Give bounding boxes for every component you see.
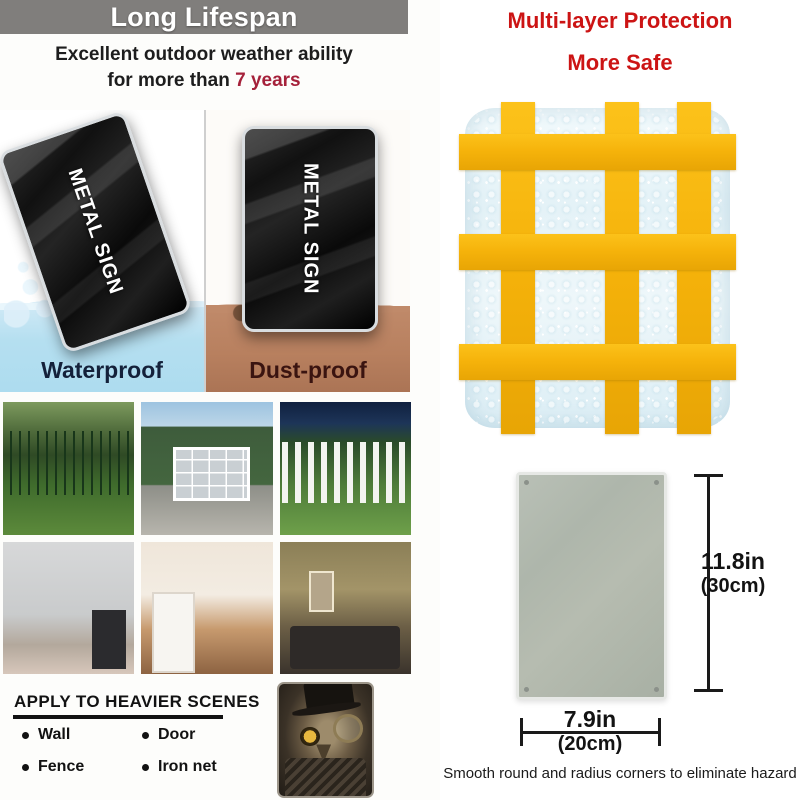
- scene-photo-gray-living-room-wall: [3, 542, 134, 675]
- dustproof-label: Dust-proof: [206, 357, 410, 384]
- scene-photo-green-house-garage: [141, 402, 272, 535]
- scene-photo-metal-mesh-fence: [3, 402, 134, 535]
- dustproof-panel: METAL SIGN Dust-proof: [206, 110, 410, 392]
- owl-eye-icon: [300, 727, 320, 746]
- scene-photo-grid: [3, 402, 411, 674]
- width-cap-left-icon: [520, 718, 523, 746]
- plate-label-dust: METAL SIGN: [299, 163, 322, 294]
- list-item-label: Fence: [38, 758, 84, 776]
- left-column: Long Lifespan Excellent outdoor weather …: [0, 0, 440, 800]
- metal-sign-plate-dust: METAL SIGN: [242, 126, 378, 332]
- subtitle-line-1: Excellent outdoor weather ability: [0, 42, 408, 68]
- list-item-fence: Fence: [22, 758, 142, 776]
- height-cap-top-icon: [694, 474, 723, 477]
- waterproof-panel: METAL SIGN Waterproof: [0, 110, 204, 392]
- width-cap-right-icon: [658, 718, 661, 746]
- width-inches: 7.9in: [515, 706, 665, 733]
- page-title: Long Lifespan: [110, 2, 297, 33]
- tape-strip-horizontal: [459, 134, 736, 170]
- waterproof-label: Waterproof: [0, 357, 204, 384]
- corner-hole-icon: [524, 480, 529, 485]
- bullet-dot-icon: [142, 732, 149, 739]
- steampunk-owl-sign-image: [277, 682, 374, 798]
- subtitle-line-2: for more than 7 years: [0, 68, 408, 94]
- list-item-door: Door: [142, 726, 195, 744]
- list-item-label: Door: [158, 726, 195, 744]
- long-lifespan-title-bar: Long Lifespan: [0, 0, 408, 34]
- metal-sign-blank: [516, 472, 667, 700]
- corner-hole-icon: [654, 687, 659, 692]
- years-highlight: 7 years: [235, 70, 301, 91]
- product-infographic: Long Lifespan Excellent outdoor weather …: [0, 0, 800, 800]
- tape-strip-horizontal: [459, 344, 736, 380]
- apply-scenes-heading: APPLY TO HEAVIER SCENES: [14, 692, 260, 712]
- owl-chest-feathers: [285, 758, 367, 796]
- height-cap-bottom-icon: [694, 689, 723, 692]
- list-item-label: Iron net: [158, 758, 217, 776]
- right-column: Multi-layer Protection More Safe: [440, 0, 800, 800]
- dimension-diagram: 11.8in (30cm) 7.9in (20cm) Smooth round …: [440, 450, 800, 800]
- scene-photo-white-picket-fence: [280, 402, 411, 535]
- list-item-label: Wall: [38, 726, 70, 744]
- monocle-icon: [333, 714, 363, 742]
- height-inches: 11.8in: [668, 548, 798, 575]
- apply-scenes-list: Wall Door Fence Iron net: [22, 726, 272, 790]
- scene-photo-living-room-framed-art: [280, 542, 411, 675]
- bullet-dot-icon: [142, 764, 149, 771]
- width-cm: (20cm): [515, 733, 665, 756]
- width-dimension-line: [520, 731, 660, 734]
- scene-photo-hallway-white-door: [141, 542, 272, 675]
- bullet-dot-icon: [22, 732, 29, 739]
- list-item-iron-net: Iron net: [142, 758, 217, 776]
- bullet-dot-icon: [22, 764, 29, 771]
- headline-line-2: More Safe: [440, 42, 800, 84]
- headline-line-1: Multi-layer Protection: [508, 8, 733, 33]
- height-cm: (30cm): [668, 575, 798, 598]
- corner-hole-icon: [524, 687, 529, 692]
- apply-list-row: Wall Door: [22, 726, 272, 744]
- height-dimension-label: 11.8in (30cm): [668, 548, 798, 598]
- list-item-wall: Wall: [22, 726, 142, 744]
- apply-list-row: Fence Iron net: [22, 758, 272, 776]
- proof-panels: METAL SIGN Waterproof METAL SIGN Dust-pr…: [0, 110, 410, 392]
- corner-safety-note: Smooth round and radius corners to elimi…: [440, 765, 800, 782]
- subtitle-prefix: for more than: [107, 70, 235, 91]
- tape-strip-horizontal: [459, 234, 736, 270]
- protection-headline: Multi-layer Protection More Safe: [440, 0, 800, 84]
- corner-hole-icon: [654, 480, 659, 485]
- apply-heading-underline: [13, 715, 223, 719]
- lifespan-subtitle: Excellent outdoor weather ability for mo…: [0, 42, 408, 94]
- bubble-wrap-package-image: [465, 108, 730, 428]
